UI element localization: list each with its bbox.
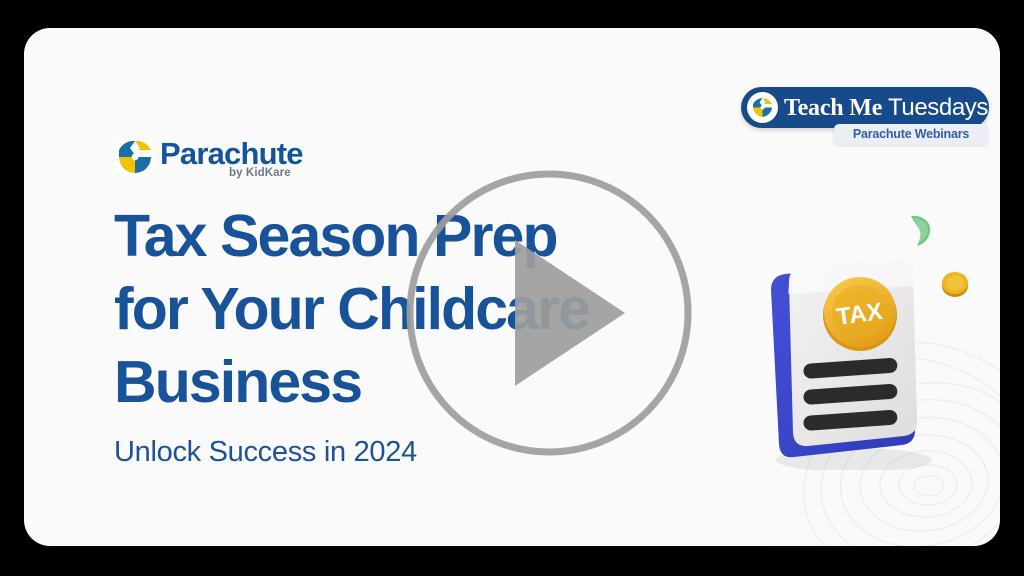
parachute-logo: Parachute by KidKare [116, 136, 316, 186]
parachute-logo-tagline: by KidKare [229, 167, 291, 179]
tax-document-icon: TAX [759, 260, 944, 470]
badge-title: Teach Me Tuesdays [784, 94, 988, 122]
badge-subtitle-pill: Parachute Webinars [834, 124, 988, 145]
video-card[interactable]: Parachute by KidKare Tax Season Prep for… [24, 28, 1000, 546]
gold-coin-icon [940, 268, 970, 298]
teach-me-tuesdays-logo-mark [747, 92, 778, 123]
play-button-icon[interactable] [403, 167, 695, 459]
page-subtitle: Unlock Success in 2024 [114, 436, 417, 469]
parachute-logo-mark [116, 138, 154, 176]
teach-me-tuesdays-badge: Teach Me Tuesdays [741, 87, 989, 128]
badge-title-bold: Teach Me [784, 95, 882, 121]
badge-subtitle: Parachute Webinars [834, 124, 988, 145]
video-thumbnail-stage: Parachute by KidKare Tax Season Prep for… [0, 0, 1024, 576]
badge-title-light: Tuesdays [882, 94, 988, 121]
dollar-bill-icon [905, 214, 935, 248]
